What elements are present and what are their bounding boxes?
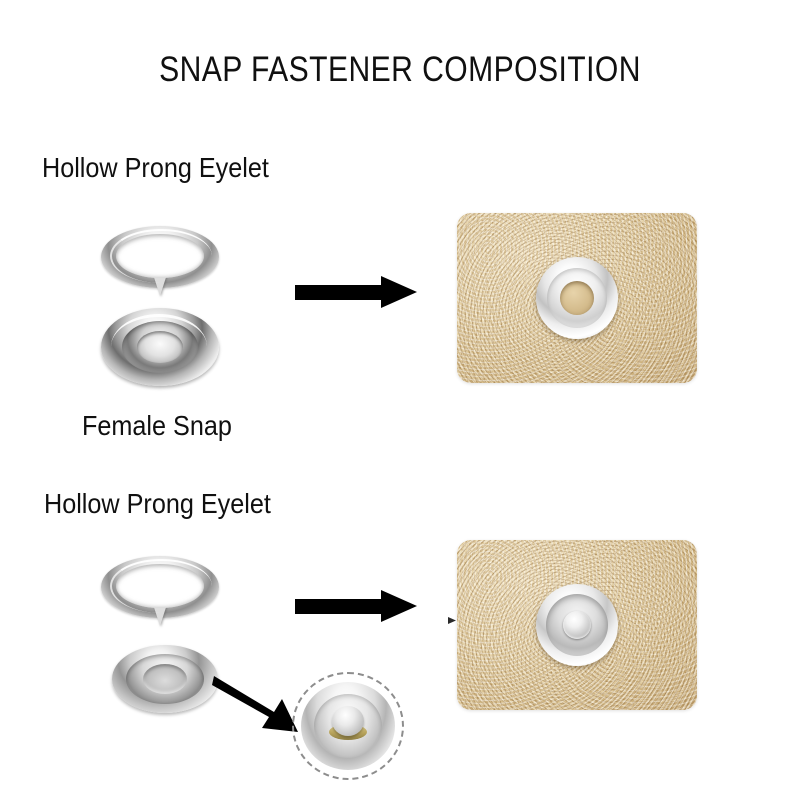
label-hollow-prong-eyelet-1: Hollow Prong Eyelet [42,152,269,184]
eyelet-ring-inner [116,234,204,278]
arrow-shaft [295,599,385,614]
label-hollow-prong-eyelet-2: Hollow Prong Eyelet [44,488,271,520]
label-female-snap: Female Snap [82,410,232,442]
part-female-snap [101,308,219,392]
male-snap-detail-zoom [292,672,404,780]
right-arrow-icon [295,590,419,622]
arrow-head [381,590,417,622]
eyelet-ring-inner [116,564,204,608]
installed-stud-post [563,611,591,639]
part-male-snap-cap [112,645,218,717]
page-title: SNAP FASTENER COMPOSITION [56,50,744,90]
installed-male-snap-stud [536,584,618,666]
stray-mark [448,617,456,624]
arrow-shaft [295,285,385,300]
part-hollow-prong-eyelet-1 [101,222,219,310]
right-arrow-icon [295,276,419,308]
male-snap-center [143,664,187,694]
part-hollow-prong-eyelet-2 [101,552,219,640]
installed-ring-hole [560,281,594,315]
arrow-head [381,276,417,308]
installed-female-snap-ring [536,257,618,339]
female-snap-hole [137,331,183,363]
leather-patch-with-male-stud [457,540,697,710]
leather-patch-with-female-snap [457,213,697,383]
detail-stud-post [332,706,364,736]
